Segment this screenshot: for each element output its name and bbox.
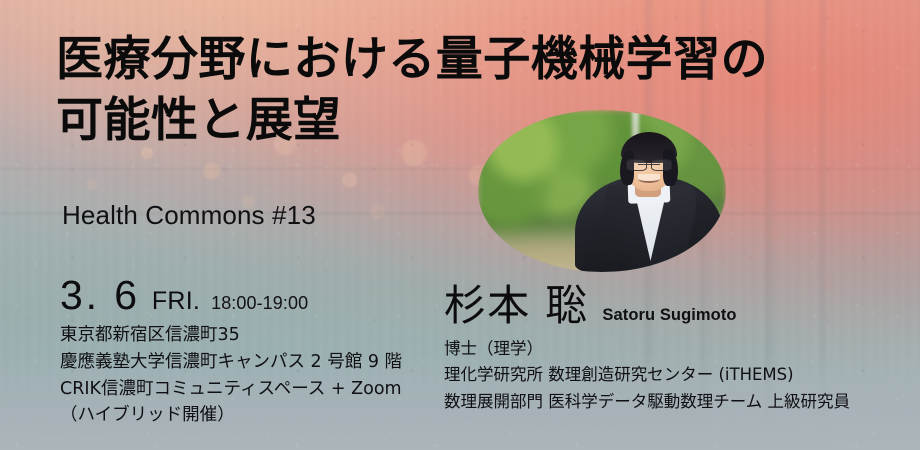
event-date-weekday: FRI. (152, 287, 200, 316)
speaker-affiliation: 博士（理学） 理化学研究所 数理創造研究センター (iTHEMS) 数理展開部門… (444, 336, 850, 415)
event-venue-address: 東京都新宿区信濃町35 慶應義塾大学信濃町キャンパス 2 号館 9 階 CRIK… (60, 322, 402, 429)
portrait-smile (638, 174, 660, 182)
speaker-name-romanized: Satoru Sugimoto (602, 306, 736, 325)
event-series-label: Health Commons #13 (62, 200, 316, 231)
event-date-month-day: 3. 6 (60, 272, 140, 319)
glasses-bridge (638, 164, 660, 165)
speaker-name-japanese: 杉本 聡 (444, 272, 588, 333)
page-title: 医療分野における量子機械学習の 可能性と展望 (56, 30, 886, 151)
event-poster: 医療分野における量子機械学習の 可能性と展望 Health Commons #1… (0, 0, 920, 450)
event-date-block: 3. 6 FRI. 18:00-19:00 (60, 272, 308, 319)
event-time-range: 18:00-19:00 (211, 293, 308, 314)
speaker-name-block: 杉本 聡 Satoru Sugimoto (444, 272, 737, 333)
